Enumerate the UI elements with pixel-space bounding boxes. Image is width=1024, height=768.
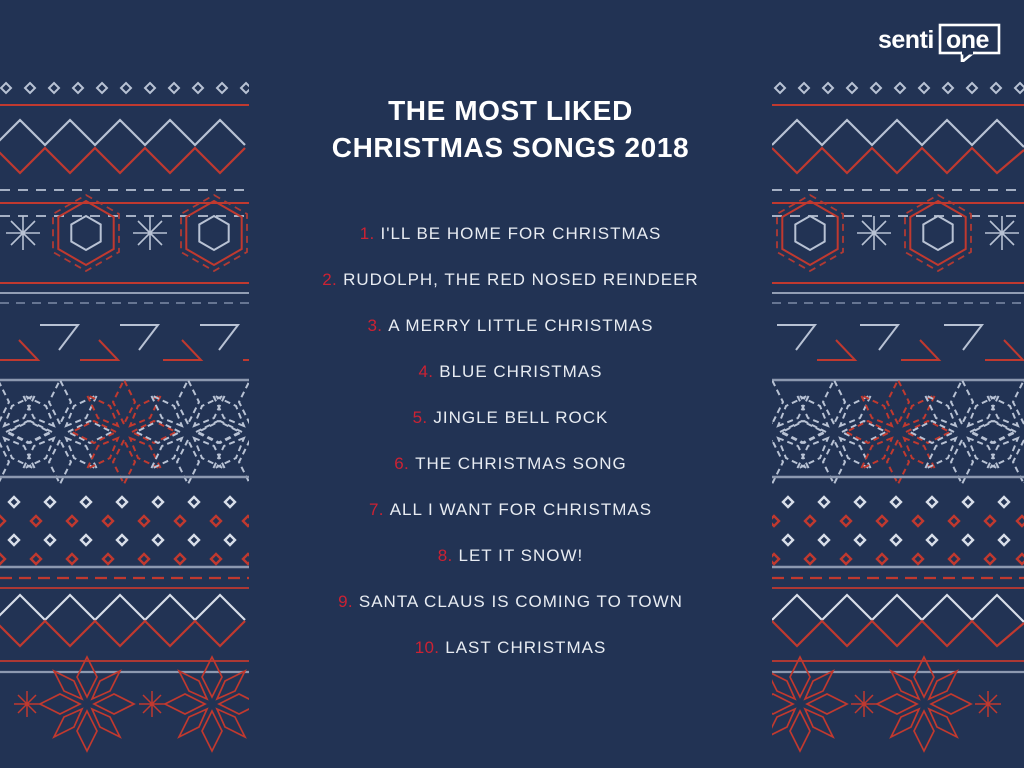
band-dotted-diamond-field [0,497,249,564]
song-list: 1. I'LL BE HOME FOR CHRISTMAS 2. RUDOLPH… [249,211,772,671]
list-item: 1. I'LL BE HOME FOR CHRISTMAS [249,211,772,257]
band-diamond-row [1,83,249,93]
band-zigzag-upper [0,120,245,173]
sentione-logo[interactable]: senti one [878,18,1002,62]
song-title: I'LL BE HOME FOR CHRISTMAS [380,224,661,244]
song-title: SANTA CLAUS IS COMING TO TOWN [359,592,683,612]
main-content: THE MOST LIKED CHRISTMAS SONGS 2018 1. I… [249,0,772,768]
band-snowflake-row [0,380,249,484]
song-rank: 4. [418,362,433,382]
song-rank: 8. [438,546,453,566]
page-title-line-1: THE MOST LIKED [332,93,689,130]
song-title: JINGLE BELL ROCK [433,408,608,428]
band-dotted-diamond-field [772,497,1024,564]
band-hexagon-star-row [6,195,247,271]
song-rank: 1. [360,224,375,244]
song-rank: 7. [369,500,384,520]
band-triangle-row [0,325,249,360]
infographic-canvas: senti one THE MOST LIKED CHRISTMAS SONGS… [0,0,1024,768]
list-item: 4. BLUE CHRISTMAS [249,349,772,395]
knit-pattern-svg-left [0,0,249,768]
list-item: 3. A MERRY LITTLE CHRISTMAS [249,303,772,349]
logo-text-senti: senti [878,26,934,54]
decorative-pattern-right [772,0,1024,768]
song-title: BLUE CHRISTMAS [439,362,602,382]
list-item: 10. LAST CHRISTMAS [249,625,772,671]
list-item: 5. JINGLE BELL ROCK [249,395,772,441]
list-item: 6. THE CHRISTMAS SONG [249,441,772,487]
knit-pattern-svg-right [772,0,1024,768]
page-title: THE MOST LIKED CHRISTMAS SONGS 2018 [332,93,689,167]
song-title: THE CHRISTMAS SONG [415,454,627,474]
band-snowflake-row [772,380,1024,484]
song-rank: 10. [415,638,440,658]
logo-text-one: one [946,26,990,54]
list-item: 9. SANTA CLAUS IS COMING TO TOWN [249,579,772,625]
song-rank: 5. [413,408,428,428]
band-triangle-row [777,325,1023,360]
page-title-line-2: CHRISTMAS SONGS 2018 [332,130,689,167]
band-hexagon-star-row [777,195,1019,271]
song-title: LAST CHRISTMAS [445,638,606,658]
song-title: ALL I WANT FOR CHRISTMAS [390,500,652,520]
list-item: 7. ALL I WANT FOR CHRISTMAS [249,487,772,533]
decorative-pattern-left [0,0,249,768]
sentione-logo-mark: senti one [878,18,1002,62]
list-item: 8. LET IT SNOW! [249,533,772,579]
song-rank: 6. [394,454,409,474]
song-title: A MERRY LITTLE CHRISTMAS [388,316,653,336]
band-zigzag-upper [772,120,1024,173]
song-title: RUDOLPH, THE RED NOSED REINDEER [343,270,699,290]
song-rank: 2. [322,270,337,290]
band-zigzag-lower [772,595,1024,646]
song-rank: 9. [338,592,353,612]
list-item: 2. RUDOLPH, THE RED NOSED REINDEER [249,257,772,303]
song-title: LET IT SNOW! [459,546,584,566]
song-rank: 3. [368,316,383,336]
band-diamond-row [775,83,1024,93]
band-zigzag-lower [0,595,245,646]
